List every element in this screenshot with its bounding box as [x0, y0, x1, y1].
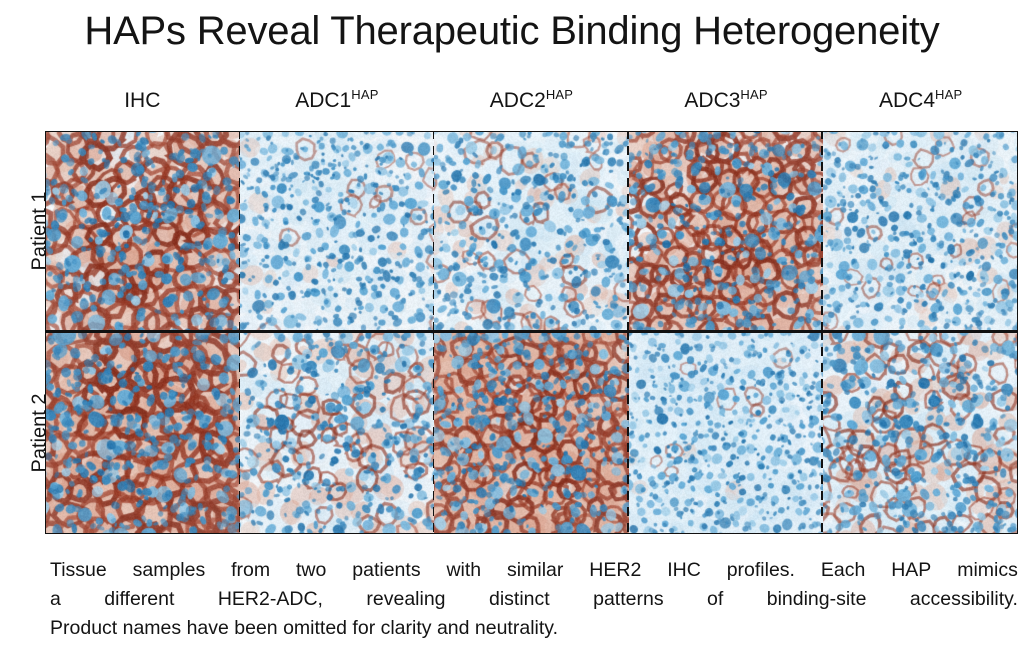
column-header-ihc-label: IHC [124, 89, 160, 112]
column-header-adc3: ADC3HAP [629, 88, 824, 118]
micrograph-patient-1-adc3 [629, 132, 823, 333]
caption-line-1: Tissue samples from two patients with si… [50, 556, 1018, 585]
micrograph-patient-1-adc4 [823, 132, 1017, 333]
column-header-adc4-superscript: HAP [935, 87, 962, 102]
micrograph-patient-2-adc2 [434, 333, 628, 534]
micrograph-patient-2-adc1-canvas [240, 333, 434, 534]
micrograph-patient-1-adc3-canvas [629, 132, 823, 333]
row-label-patient-2: Patient 2 [0, 332, 44, 534]
column-header-adc3-label: ADC3 [684, 89, 740, 112]
micrograph-patient-2-ihc [46, 333, 240, 534]
column-header-adc2: ADC2HAP [434, 88, 629, 118]
column-header-adc1-superscript: HAP [351, 87, 378, 102]
micrograph-patient-1-ihc-canvas [46, 132, 240, 333]
micrograph-patient-1-ihc [46, 132, 240, 333]
caption-line-2: a different HER2-ADC, revealing distinct… [50, 585, 1018, 614]
column-header-adc3-superscript: HAP [740, 87, 767, 102]
micrograph-patient-1-adc1-canvas [240, 132, 434, 333]
micrograph-patient-1-adc2 [434, 132, 628, 333]
column-header-adc4-label: ADC4 [879, 89, 935, 112]
page-title: HAPs Reveal Therapeutic Binding Heteroge… [0, 9, 1024, 54]
column-header-adc2-superscript: HAP [546, 87, 573, 102]
micrograph-patient-2-adc4-canvas [823, 333, 1017, 534]
column-header-adc2-label: ADC2 [490, 89, 546, 112]
column-header-adc1-label: ADC1 [295, 89, 351, 112]
figure-caption: Tissue samples from two patients with si… [50, 556, 1018, 643]
micrograph-patient-2-ihc-canvas [46, 333, 240, 534]
micrograph-patient-2-adc4 [823, 333, 1017, 534]
patient-row-divider [45, 330, 1018, 333]
micrograph-patient-2-adc3 [629, 333, 823, 534]
column-header-adc1: ADC1HAP [240, 88, 435, 118]
micrograph-patient-1-adc1 [240, 132, 434, 333]
micrograph-patient-2-adc1 [240, 333, 434, 534]
micrograph-patient-1-adc2-canvas [434, 132, 628, 333]
caption-line-3: Product names have been omitted for clar… [50, 614, 1018, 643]
micrograph-patient-2-adc2-canvas [434, 333, 628, 534]
micrograph-patient-2-adc3-canvas [629, 333, 823, 534]
column-header-ihc: IHC [45, 88, 240, 118]
column-header-row: IHC ADC1HAP ADC2HAP ADC3HAP ADC4HAP [45, 88, 1018, 118]
micrograph-patient-1-adc4-canvas [823, 132, 1017, 333]
column-header-adc4: ADC4HAP [823, 88, 1018, 118]
row-label-patient-1: Patient 1 [0, 131, 44, 331]
micrograph-grid [45, 131, 1018, 534]
